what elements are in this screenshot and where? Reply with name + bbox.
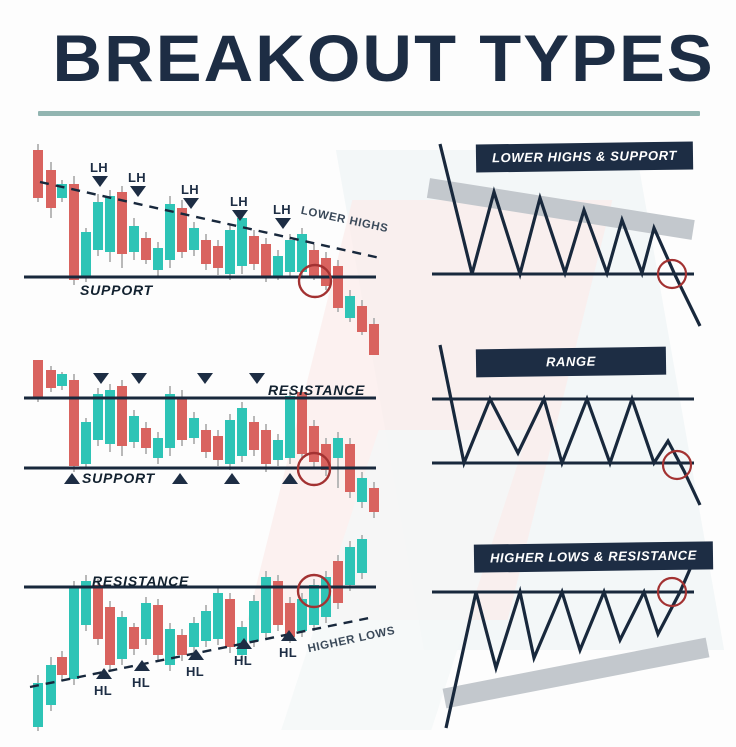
triangle-down-icon bbox=[183, 198, 199, 209]
resistance-label-2: RESISTANCE bbox=[268, 382, 365, 398]
ascending-trend-band bbox=[443, 638, 710, 709]
badge-higher-lows-resistance: HIGHER LOWS & RESISTANCE bbox=[474, 541, 713, 572]
marker-lh-3: LH bbox=[181, 182, 199, 197]
marker-hl-5: HL bbox=[279, 645, 297, 660]
title-underline bbox=[38, 111, 700, 116]
triangle-up-icon bbox=[236, 638, 252, 649]
triangle-down-icon bbox=[93, 373, 109, 384]
triangle-down-icon bbox=[197, 373, 213, 384]
badge-range: RANGE bbox=[476, 347, 666, 378]
triangle-down-icon bbox=[92, 176, 108, 187]
resistance-label-3: RESISTANCE bbox=[92, 573, 189, 589]
triangle-down-icon bbox=[249, 373, 265, 384]
marker-hl-2: HL bbox=[132, 675, 150, 690]
marker-hl-1: HL bbox=[94, 683, 112, 698]
badge-lower-highs-support: LOWER HIGHS & SUPPORT bbox=[476, 141, 693, 172]
triangle-down-icon bbox=[130, 186, 146, 197]
triangle-down-icon bbox=[232, 210, 248, 221]
support-label-1: SUPPORT bbox=[80, 282, 153, 298]
triangle-up-icon bbox=[281, 630, 297, 641]
page-title: BREAKOUT TYPES bbox=[30, 22, 736, 94]
triangle-up-icon bbox=[188, 649, 204, 660]
triangle-up-icon bbox=[64, 473, 80, 484]
marker-hl-4: HL bbox=[234, 653, 252, 668]
chart-lower-highs-support bbox=[24, 140, 424, 355]
candles-descending-triangle bbox=[33, 144, 379, 355]
marker-lh-4: LH bbox=[230, 194, 248, 209]
triangle-up-icon bbox=[172, 473, 188, 484]
marker-lh-2: LH bbox=[128, 170, 146, 185]
marker-lh-5: LH bbox=[273, 202, 291, 217]
marker-lh-1: LH bbox=[90, 160, 108, 175]
triangle-down-icon bbox=[275, 218, 291, 229]
support-label-2: SUPPORT bbox=[82, 470, 155, 486]
triangle-down-icon bbox=[131, 373, 147, 384]
triangle-up-icon bbox=[282, 473, 298, 484]
infographic-page: BREAKOUT TYPES bbox=[0, 0, 736, 747]
triangle-up-icon bbox=[134, 660, 150, 671]
triangle-up-icon bbox=[224, 473, 240, 484]
marker-hl-3: HL bbox=[186, 664, 204, 679]
triangle-up-icon bbox=[96, 668, 112, 679]
